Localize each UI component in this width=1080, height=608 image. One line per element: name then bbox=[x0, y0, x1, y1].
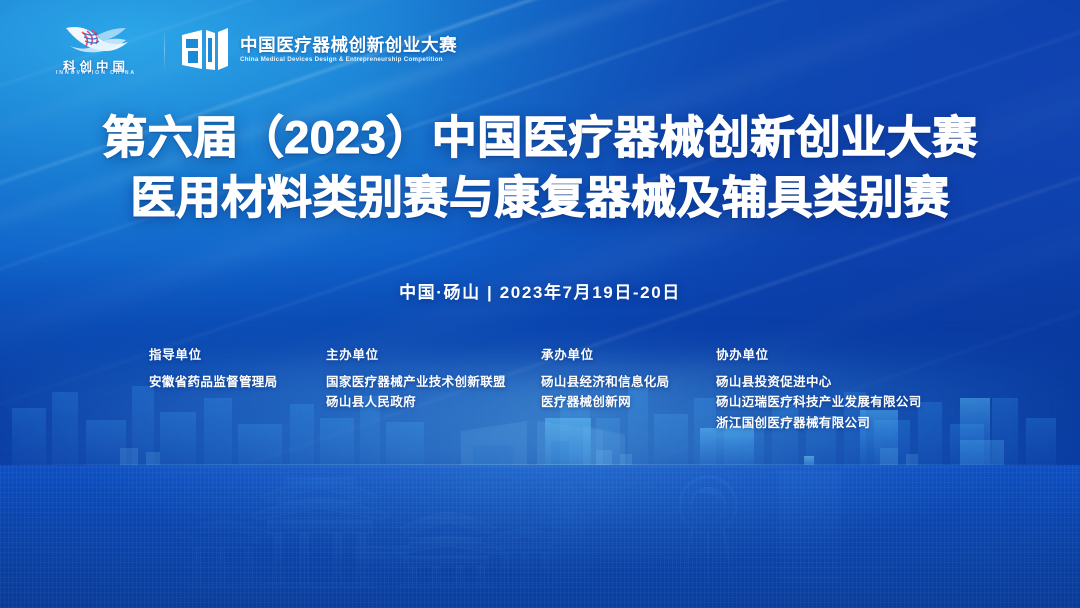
organizer-column-host: 主办单位 国家医疗器械产业技术创新联盟 砀山县人民政府 bbox=[326, 344, 506, 413]
phoenix-dna-mark-icon bbox=[62, 22, 132, 56]
organizer-heading: 指导单位 bbox=[149, 344, 278, 363]
organizer-item: 医疗器械创新网 bbox=[541, 392, 670, 412]
organizer-heading: 协办单位 bbox=[716, 344, 922, 363]
innovation-china-en-text: INNOVATION CHINA bbox=[44, 70, 148, 76]
poster-canvas bbox=[0, 0, 1080, 608]
organizer-item: 浙江国创医疗器械有限公司 bbox=[716, 413, 922, 433]
logo-bar: 科创中国 INNOVATION CHINA 中国医疗器械创新创业大赛 China… bbox=[44, 22, 457, 78]
date-location-line: 中国·砀山 | 2023年7月19日-20日 bbox=[0, 278, 1080, 303]
organizer-item: 国家医疗器械产业技术创新联盟 bbox=[326, 372, 506, 392]
title-line-1: 第六届（2023）中国医疗器械创新创业大赛 bbox=[0, 108, 1080, 168]
organizer-column-coorganizer: 协办单位 砀山县投资促进中心 砀山迈瑞医疗科技产业发展有限公司 浙江国创医疗器械… bbox=[716, 344, 922, 433]
poster-title: 第六届（2023）中国医疗器械创新创业大赛 医用材料类别赛与康复器械及辅具类别赛 bbox=[0, 108, 1080, 229]
logo-divider bbox=[164, 29, 165, 71]
organizer-heading: 承办单位 bbox=[541, 344, 670, 363]
title-line-2: 医用材料类别赛与康复器械及辅具类别赛 bbox=[0, 168, 1080, 228]
organizer-item: 砀山县投资促进中心 bbox=[716, 372, 922, 392]
organizer-item: 砀山县人民政府 bbox=[326, 392, 506, 412]
competition-cn-title: 中国医疗器械创新创业大赛 bbox=[240, 37, 457, 55]
organizer-item: 砀山县经济和信息化局 bbox=[541, 372, 670, 392]
organizer-columns: 指导单位 安徽省药品监督管理局 主办单位 国家医疗器械产业技术创新联盟 砀山县人… bbox=[0, 344, 1080, 434]
organizer-column-guidance: 指导单位 安徽省药品监督管理局 bbox=[149, 344, 278, 392]
organizer-item: 安徽省药品监督管理局 bbox=[149, 372, 278, 392]
innovation-china-logo: 科创中国 INNOVATION CHINA bbox=[44, 22, 148, 78]
vignette bbox=[0, 0, 1080, 608]
organizer-item: 砀山迈瑞医疗科技产业发展有限公司 bbox=[716, 392, 922, 412]
organizer-column-undertaker: 承办单位 砀山县经济和信息化局 医疗器械创新网 bbox=[541, 344, 670, 413]
organizer-heading: 主办单位 bbox=[326, 344, 506, 363]
competition-logo: 中国医疗器械创新创业大赛 China Medical Devices Desig… bbox=[181, 27, 457, 73]
competition-en-title: China Medical Devices Design & Entrepren… bbox=[240, 57, 457, 63]
chuang-open-book-mark-icon bbox=[181, 27, 229, 73]
